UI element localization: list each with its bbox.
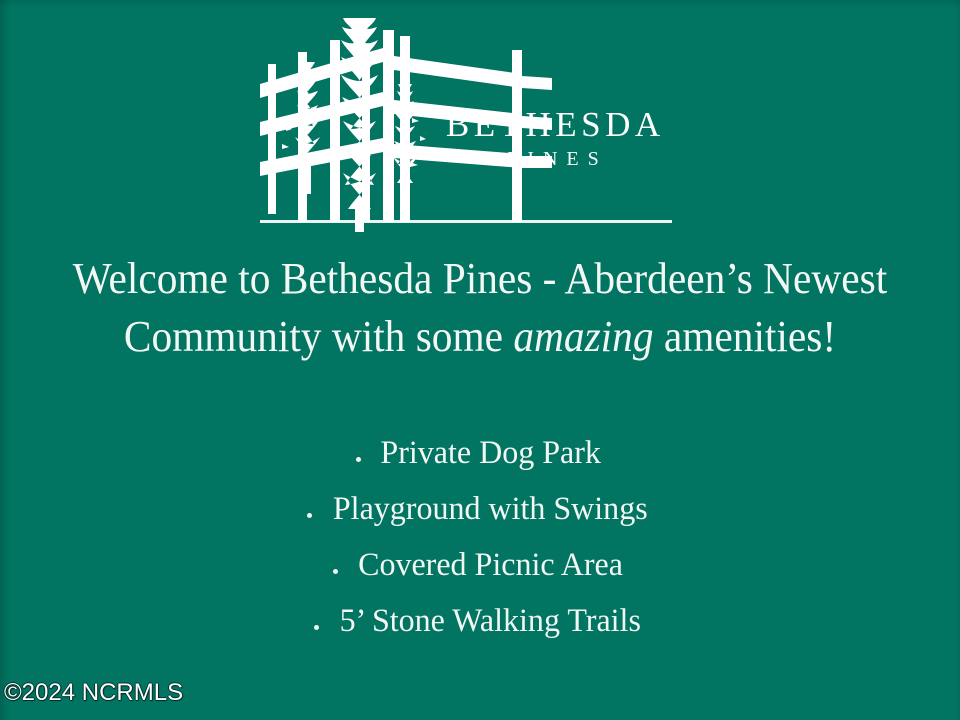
amenity-label: Playground with Swings	[333, 481, 648, 537]
headline-line-1: Welcome to Bethesda Pines - Aberdeen’s N…	[29, 250, 931, 308]
brand-wordmark: BETHESDA PINES	[418, 106, 688, 171]
bullet-dot-icon	[314, 625, 319, 630]
headline-emphasis: amazing	[513, 312, 653, 361]
headline-line-2-tail: amenities!	[654, 312, 837, 361]
brand-name-primary: BETHESDA	[418, 106, 688, 144]
list-item: Private Dog Park	[0, 425, 960, 481]
bullet-dot-icon	[307, 513, 312, 518]
listing-marketing-slide: BETHESDA PINES Welcome to Bethesda Pines…	[0, 0, 960, 720]
brand-logo: BETHESDA PINES	[0, 14, 960, 232]
headline-line-2-lead: Community with some	[124, 312, 513, 361]
amenity-label: Covered Picnic Area	[358, 537, 623, 593]
amenity-label: Private Dog Park	[380, 425, 600, 481]
brand-name-secondary: PINES	[418, 147, 688, 171]
copyright-watermark: ©2024 NCRMLS	[4, 680, 183, 706]
list-item: Playground with Swings	[0, 481, 960, 537]
bullet-dot-icon	[356, 457, 361, 462]
list-item: Covered Picnic Area	[0, 537, 960, 593]
amenities-list: Private Dog Park Playground with Swings …	[0, 425, 960, 649]
ground-line	[260, 220, 672, 223]
amenity-label: 5’ Stone Walking Trails	[340, 593, 641, 649]
headline-line-2: Community with some amazing amenities!	[29, 308, 931, 366]
bullet-dot-icon	[333, 569, 338, 574]
headline: Welcome to Bethesda Pines - Aberdeen’s N…	[0, 250, 960, 366]
list-item: 5’ Stone Walking Trails	[0, 593, 960, 649]
